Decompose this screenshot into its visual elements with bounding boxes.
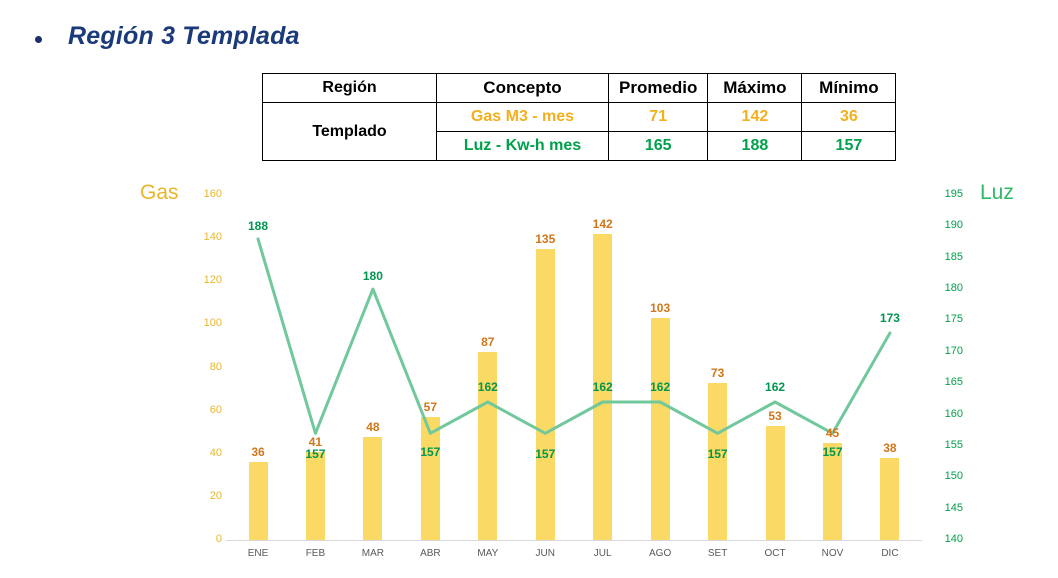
x-axis-label-OCT: OCT	[750, 548, 800, 559]
page-title: Región 3 Templada	[68, 22, 300, 51]
bar-OCT[interactable]	[766, 426, 785, 540]
cell-gas-promedio: 71	[609, 103, 708, 132]
x-axis-label-NOV: NOV	[808, 548, 858, 559]
cell-concepto-gas: Gas M3 - mes	[437, 103, 609, 132]
right-axis-tick-190: 190	[933, 220, 963, 231]
bar-MAY[interactable]	[478, 352, 497, 540]
x-axis-label-MAY: MAY	[463, 548, 513, 559]
line-label-ABR: 157	[410, 445, 450, 459]
cell-concepto-luz: Luz - Kw-h mes	[437, 132, 609, 161]
line-label-NOV: 157	[813, 445, 853, 459]
header-concepto: Concepto	[437, 74, 609, 103]
cell-luz-minimo: 157	[802, 132, 896, 161]
bar-ENE[interactable]	[249, 462, 268, 540]
bar-label-AGO: 103	[640, 301, 680, 315]
bar-label-JUL: 142	[583, 217, 623, 231]
left-axis-title: Gas	[140, 181, 179, 205]
x-axis-label-ABR: ABR	[405, 548, 455, 559]
line-label-OCT: 162	[755, 380, 795, 394]
table-row-gas: Templado Gas M3 - mes 71 142 36	[263, 103, 896, 132]
bar-label-OCT: 53	[755, 409, 795, 423]
right-axis-tick-195: 195	[933, 189, 963, 200]
bar-label-JUN: 135	[525, 232, 565, 246]
x-axis-left-tick	[226, 540, 233, 541]
bar-label-MAR: 48	[353, 420, 393, 434]
bullet-icon	[35, 36, 42, 43]
right-axis-tick-140: 140	[933, 534, 963, 545]
line-label-JUN: 157	[525, 447, 565, 461]
bar-ABR[interactable]	[421, 417, 440, 540]
left-axis-tick-40: 40	[192, 448, 222, 459]
right-axis-tick-185: 185	[933, 252, 963, 263]
right-axis-tick-180: 180	[933, 283, 963, 294]
line-label-SET: 157	[698, 447, 738, 461]
table-header-row: Región Concepto Promedio Máximo Mínimo	[263, 74, 896, 103]
x-axis-label-ENE: ENE	[233, 548, 283, 559]
cell-gas-maximo: 142	[708, 103, 802, 132]
line-label-JUL: 162	[583, 380, 623, 394]
bar-DIC[interactable]	[880, 458, 899, 540]
x-axis-line	[232, 540, 922, 541]
title-row: Región 3 Templada	[0, 22, 1058, 58]
left-axis-tick-140: 140	[192, 232, 222, 243]
cell-gas-minimo: 36	[802, 103, 896, 132]
right-axis-tick-160: 160	[933, 409, 963, 420]
bar-NOV[interactable]	[823, 443, 842, 540]
right-axis-title: Luz	[980, 181, 1014, 205]
bar-label-SET: 73	[698, 366, 738, 380]
luz-line-path	[258, 239, 890, 433]
line-label-DIC: 173	[870, 311, 910, 325]
bar-label-MAY: 87	[468, 335, 508, 349]
bar-label-DIC: 38	[870, 441, 910, 455]
left-axis-tick-100: 100	[192, 318, 222, 329]
right-axis-tick-165: 165	[933, 377, 963, 388]
line-label-AGO: 162	[640, 380, 680, 394]
right-axis-tick-175: 175	[933, 314, 963, 325]
header-maximo: Máximo	[708, 74, 802, 103]
bar-MAR[interactable]	[363, 437, 382, 541]
x-axis-label-JUN: JUN	[520, 548, 570, 559]
right-axis-tick-170: 170	[933, 346, 963, 357]
right-axis-tick-150: 150	[933, 471, 963, 482]
x-axis-label-AGO: AGO	[635, 548, 685, 559]
header-promedio: Promedio	[609, 74, 708, 103]
bar-label-FEB: 41	[295, 435, 335, 449]
line-label-FEB: 157	[295, 447, 335, 461]
x-axis-label-MAR: MAR	[348, 548, 398, 559]
left-axis-tick-60: 60	[192, 405, 222, 416]
bar-label-ENE: 36	[238, 445, 278, 459]
line-label-MAY: 162	[468, 380, 508, 394]
line-label-MAR: 180	[353, 269, 393, 283]
left-axis-tick-20: 20	[192, 491, 222, 502]
x-axis-label-SET: SET	[693, 548, 743, 559]
header-minimo: Mínimo	[802, 74, 896, 103]
x-axis-label-DIC: DIC	[865, 548, 915, 559]
bar-label-ABR: 57	[410, 400, 450, 414]
right-axis-tick-155: 155	[933, 440, 963, 451]
left-axis-tick-120: 120	[192, 275, 222, 286]
header-region: Región	[263, 74, 437, 103]
right-axis-tick-145: 145	[933, 503, 963, 514]
line-label-ENE: 188	[238, 219, 278, 233]
bar-AGO[interactable]	[651, 318, 670, 540]
cell-region-templado: Templado	[263, 103, 437, 161]
bar-FEB[interactable]	[306, 452, 325, 540]
summary-table: Región Concepto Promedio Máximo Mínimo T…	[262, 73, 896, 161]
bar-JUL[interactable]	[593, 234, 612, 540]
cell-luz-maximo: 188	[708, 132, 802, 161]
bar-label-NOV: 45	[813, 426, 853, 440]
bar-SET[interactable]	[708, 383, 727, 540]
x-axis-label-FEB: FEB	[290, 548, 340, 559]
bar-JUN[interactable]	[536, 249, 555, 540]
left-axis-tick-0: 0	[192, 534, 222, 545]
left-axis-tick-80: 80	[192, 362, 222, 373]
cell-luz-promedio: 165	[609, 132, 708, 161]
x-axis-label-JUL: JUL	[578, 548, 628, 559]
left-axis-tick-160: 160	[192, 189, 222, 200]
